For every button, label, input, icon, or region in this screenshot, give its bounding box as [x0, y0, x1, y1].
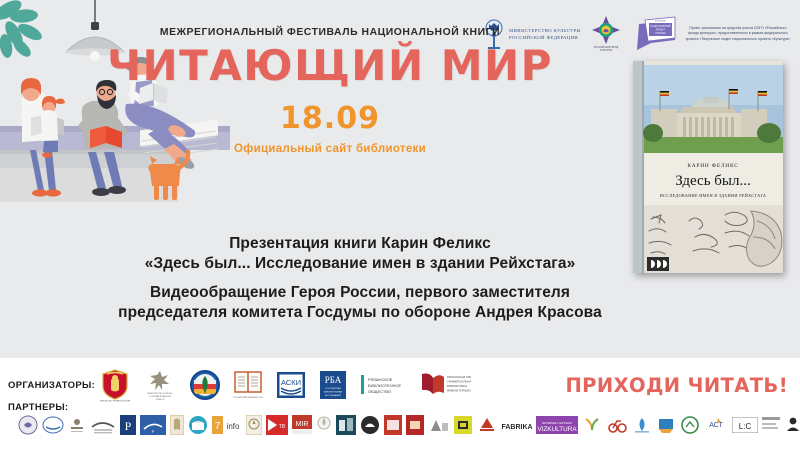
partner-logo-11[interactable]: ТВ — [266, 413, 288, 437]
svg-text:info: info — [227, 422, 240, 431]
svg-text:УНИВЕРСАЛЬНАЯ НАУЧНАЯ: УНИВЕРСАЛЬНАЯ НАУЧНАЯ — [447, 380, 471, 384]
organizers-label: ОРГАНИЗАТОРЫ: — [8, 380, 100, 391]
event-line-3: Видеообращение Героя России, первого зам… — [0, 283, 720, 303]
russian-book-union-logo[interactable]: РОССИЙСКИЙ КНИЖНЫЙ СОЮЗ — [233, 369, 263, 401]
partner-logo-26[interactable] — [680, 413, 700, 437]
svg-text:РБА: РБА — [325, 375, 342, 385]
organizer-logos: ПРАВИТЕЛЬСТВО РЯЗАНСКОЙ ОБЛАСТИ МИНИСТЕР… — [100, 367, 471, 403]
svg-text:ИМЕНИ ГОРЬКОГО: ИМЕНИ ГОРЬКОГО — [447, 389, 471, 393]
svg-text:ИНТЕРНЕТ-ЖУРНАЛ: ИНТЕРНЕТ-ЖУРНАЛ — [542, 421, 572, 425]
partner-logo-16[interactable] — [384, 413, 402, 437]
svg-text:АССОЦИАЦИЯ: АССОЦИАЦИЯ — [325, 394, 341, 397]
ryazan-region-government-logo[interactable]: ПРАВИТЕЛЬСТВО РЯЗАНСКОЙ ОБЛАСТИ — [100, 368, 130, 402]
partner-logo-30[interactable] — [784, 413, 800, 437]
partner-logo-27[interactable]: АСТ — [704, 413, 728, 437]
rso-alania-logo[interactable] — [190, 370, 220, 400]
footer: ОРГАНИЗАТОРЫ: ПРАВИТЕЛЬСТВО РЯЗАНСКОЙ ОБ… — [0, 358, 800, 450]
partner-logo-22[interactable] — [582, 413, 602, 437]
svg-text:ОБЛАСТИ: ОБЛАСТИ — [156, 398, 165, 401]
partner-logo-6[interactable]: Р — [140, 413, 166, 437]
partner-logo-18[interactable] — [428, 413, 450, 437]
official-site-label: Официальный сайт библиотеки — [0, 143, 660, 155]
svg-text:РЯЗАНСКОЕ: РЯЗАНСКОЕ — [368, 377, 393, 382]
partner-logo-12[interactable]: MIR — [292, 413, 312, 437]
svg-text:РОССИЙСКИЙ КНИЖНЫЙ СОЮЗ: РОССИЙСКИЙ КНИЖНЫЙ СОЮЗ — [233, 396, 263, 399]
partner-logo-10[interactable] — [246, 413, 262, 437]
svg-text:Р: Р — [152, 429, 155, 434]
partner-logo-23[interactable] — [606, 413, 628, 437]
partner-logo-info[interactable]: 7info — [212, 413, 242, 437]
partner-logo-13[interactable] — [316, 413, 332, 437]
aski-logo[interactable]: АСКИ — [276, 371, 306, 399]
svg-text:БИБЛИОТЕКА: БИБЛИОТЕКА — [447, 384, 467, 388]
ministry-culture-ryazan-logo[interactable]: МИНИСТЕРСТВО КУЛЬТУРЫ И ТУРИЗМА РЯЗАНСКО… — [143, 368, 177, 402]
rba-logo[interactable]: РБА РОССИЙСКАЯ БИБЛИОТЕЧНАЯ АССОЦИАЦИЯ — [319, 370, 347, 400]
event-line-2: «Здесь был... Исследование имен в здании… — [0, 254, 720, 274]
event-description: Презентация книги Карин Феликс «Здесь бы… — [0, 234, 720, 324]
partner-logo-29[interactable] — [762, 413, 780, 437]
partner-logo-4[interactable] — [90, 413, 116, 437]
partner-logo-vizkultura[interactable]: ИНТЕРНЕТ-ЖУРНАЛVIZKULTURA — [536, 413, 578, 437]
event-line-4: председателя комитета Госдумы по обороне… — [0, 303, 720, 323]
festival-subtitle: МЕЖРЕГИОНАЛЬНЫЙ ФЕСТИВАЛЬ НАЦИОНАЛЬНОЙ К… — [0, 27, 660, 38]
partner-logo-14[interactable] — [336, 413, 356, 437]
partner-logo-19[interactable] — [454, 413, 472, 437]
svg-text:MIR: MIR — [296, 421, 309, 428]
svg-text:МИНИСТЕРСТВО КУЛЬТУРЫ: МИНИСТЕРСТВО КУЛЬТУРЫ — [148, 393, 173, 395]
organizers-row: ОРГАНИЗАТОРЫ: ПРАВИТЕЛЬСТВО РЯЗАНСКОЙ ОБ… — [8, 366, 792, 404]
svg-text:L:C: L:C — [739, 422, 752, 431]
svg-text:ПРАВИТЕЛЬСТВО РЯЗАНСКОЙ ОБЛАСТ: ПРАВИТЕЛЬСТВО РЯЗАНСКОЙ ОБЛАСТИ — [100, 399, 130, 402]
svg-text:ИССЛЕДОВАНИЕ ИМЕН В ЗДАНИИ РЕЙ: ИССЛЕДОВАНИЕ ИМЕН В ЗДАНИИ РЕЙХСТАГА — [660, 193, 767, 198]
partner-logos-row: Р Р 7info ТВ MIR FABRIKA ИНТЕРНЕТ-ЖУРНАЛ… — [18, 408, 800, 442]
call-to-action-label: ПРИХОДИ ЧИТАТЬ! — [565, 374, 792, 397]
svg-text:ТВ: ТВ — [279, 424, 286, 430]
ryazan-library-society-logo[interactable]: РЯЗАНСКОЕ БИБЛИОТЕЧНОЕ ОБЩЕСТВО — [360, 372, 406, 398]
partner-logo-lc[interactable]: L:C — [732, 413, 758, 437]
partner-logo-3[interactable] — [68, 413, 86, 437]
svg-text:ОБЩЕСТВО: ОБЩЕСТВО — [368, 389, 391, 394]
svg-text:VIZKULTURA: VIZKULTURA — [537, 426, 577, 433]
svg-text:КУЛЬТУРА: КУЛЬТУРА — [655, 20, 666, 23]
partner-logo-fabrika[interactable]: FABRIKA — [502, 413, 532, 437]
svg-text:FABRIKA: FABRIKA — [502, 424, 532, 431]
svg-text:АСКИ: АСКИ — [281, 378, 301, 387]
partner-logo-2[interactable] — [42, 413, 64, 437]
partner-logo-17[interactable] — [406, 413, 424, 437]
svg-text:КАРИН ФЕЛИКС: КАРИН ФЕЛИКС — [687, 163, 738, 169]
event-date: 18.09 — [0, 104, 660, 134]
partner-logo-1[interactable] — [18, 413, 38, 437]
partner-logo-5[interactable]: Р — [120, 413, 136, 437]
partner-logo-20[interactable] — [476, 413, 498, 437]
svg-text:Здесь был...: Здесь был... — [675, 173, 751, 189]
partner-logo-15[interactable] — [360, 413, 380, 437]
svg-text:РЯЗАНСКАЯ ОБЛАСТНАЯ: РЯЗАНСКАЯ ОБЛАСТНАЯ — [447, 375, 471, 379]
page-title: ЧИТАЮЩИЙ МИР — [0, 45, 660, 87]
grant-note: Проект реализован на средства гранта ООГ… — [685, 26, 791, 42]
partner-logo-7[interactable] — [170, 413, 184, 437]
event-line-1: Презентация книги Карин Феликс — [0, 234, 720, 254]
svg-text:БИБЛИОТЕЧНАЯ: БИБЛИОТЕЧНАЯ — [324, 390, 342, 393]
gorky-library-logo[interactable]: РЯЗАНСКАЯ ОБЛАСТНАЯ УНИВЕРСАЛЬНАЯ НАУЧНА… — [419, 371, 471, 399]
svg-text:И ТУРИЗМА РЯЗАНСКОЙ: И ТУРИЗМА РЯЗАНСКОЙ — [149, 395, 172, 398]
svg-text:АСТ: АСТ — [709, 422, 723, 429]
partner-logo-8[interactable] — [188, 413, 208, 437]
partner-logo-24[interactable] — [632, 413, 652, 437]
poster-canvas: МИНИСТЕРСТВО КУЛЬТУРЫ РОССИЙСКОЙ ФЕДЕРАЦ… — [0, 0, 800, 450]
svg-text:БИБЛИОТЕЧНОЕ: БИБЛИОТЕЧНОЕ — [368, 383, 402, 388]
svg-text:7: 7 — [215, 421, 221, 432]
svg-text:Р: Р — [125, 419, 132, 433]
svg-text:РОССИЙСКАЯ: РОССИЙСКАЯ — [325, 387, 341, 390]
partner-logo-25[interactable] — [656, 413, 676, 437]
reichstag-building-photo — [643, 65, 783, 153]
